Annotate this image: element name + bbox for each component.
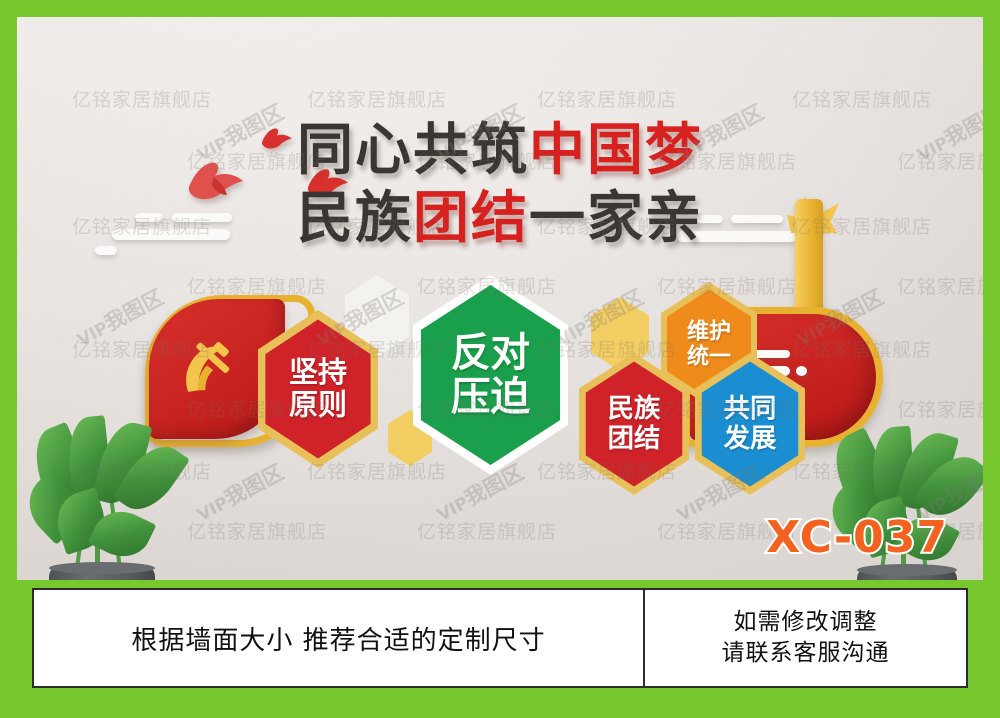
watermark-shop: 亿铭家居旗舰店 (537, 85, 677, 112)
bottom-info-panel: 根据墙面大小 推荐合适的定制尺寸 如需修改调整 请联系客服沟通 (32, 588, 968, 688)
watermark-shop: 亿铭家居旗舰店 (417, 517, 557, 544)
wall-scene: 同心共筑中国梦 民族团结一家亲 (17, 17, 983, 580)
badge-fandui-yapo[interactable]: 反对 压迫 (413, 275, 568, 475)
bottom-panel-right: 如需修改调整 请联系客服沟通 (645, 590, 966, 686)
watermark-shop: 亿铭家居旗舰店 (897, 395, 983, 422)
cloud-decor-left-4 (95, 246, 117, 255)
badge-label: 坚持 原则 (289, 356, 347, 421)
headline-line-1: 同心共筑中国梦 (17, 123, 983, 179)
headline-line-2: 民族团结一家亲 (17, 191, 983, 247)
headline-line1-red: 中国梦 (529, 118, 703, 183)
badge-inner: 共同 发展 (702, 362, 799, 487)
plant-pot (49, 567, 155, 580)
size-recommendation-text: 根据墙面大小 推荐合适的定制尺寸 (131, 620, 545, 657)
watermark-shop: 亿铭家居旗舰店 (307, 85, 447, 112)
headline-line2-dash: 一家亲 (529, 186, 703, 251)
headline-line1-dark: 同心共筑 (297, 118, 529, 183)
plant-left (25, 415, 195, 580)
watermark-shop: 亿铭家居旗舰店 (187, 517, 327, 544)
bottom-panel-left: 根据墙面大小 推荐合适的定制尺寸 (34, 590, 645, 686)
watermark-vip: VIP我图区 (191, 456, 289, 527)
hammer-sickle-icon (171, 331, 249, 409)
product-image-canvas: 同心共筑中国梦 民族团结一家亲 (0, 0, 1000, 718)
headline-line2-red: 团结 (413, 186, 529, 251)
watermark-shop: 亿铭家居旗舰店 (792, 85, 932, 112)
badge-label: 维护 统一 (687, 319, 731, 368)
watermark-shop: 亿铭家居旗舰店 (897, 272, 983, 299)
badge-label: 共同 发展 (724, 394, 777, 453)
badge-label: 民族 团结 (608, 394, 661, 453)
badge-inner: 反对 压迫 (421, 285, 561, 465)
badge-label: 反对 压迫 (451, 331, 530, 420)
customer-service-line-1: 如需修改调整 (734, 607, 878, 638)
watermark-shop: 亿铭家居旗舰店 (72, 85, 212, 112)
badge-inner: 坚持 原则 (265, 319, 371, 458)
plant-pot (857, 569, 957, 580)
headline-block: 同心共筑中国梦 民族团结一家亲 (17, 123, 983, 247)
product-code: XC-037 (766, 512, 948, 563)
customer-service-line-2: 请联系客服沟通 (722, 638, 890, 669)
headline-line2-dark: 民族 (297, 186, 413, 251)
badge-inner: 民族 团结 (586, 362, 683, 487)
torch-cloud-4 (796, 366, 807, 376)
